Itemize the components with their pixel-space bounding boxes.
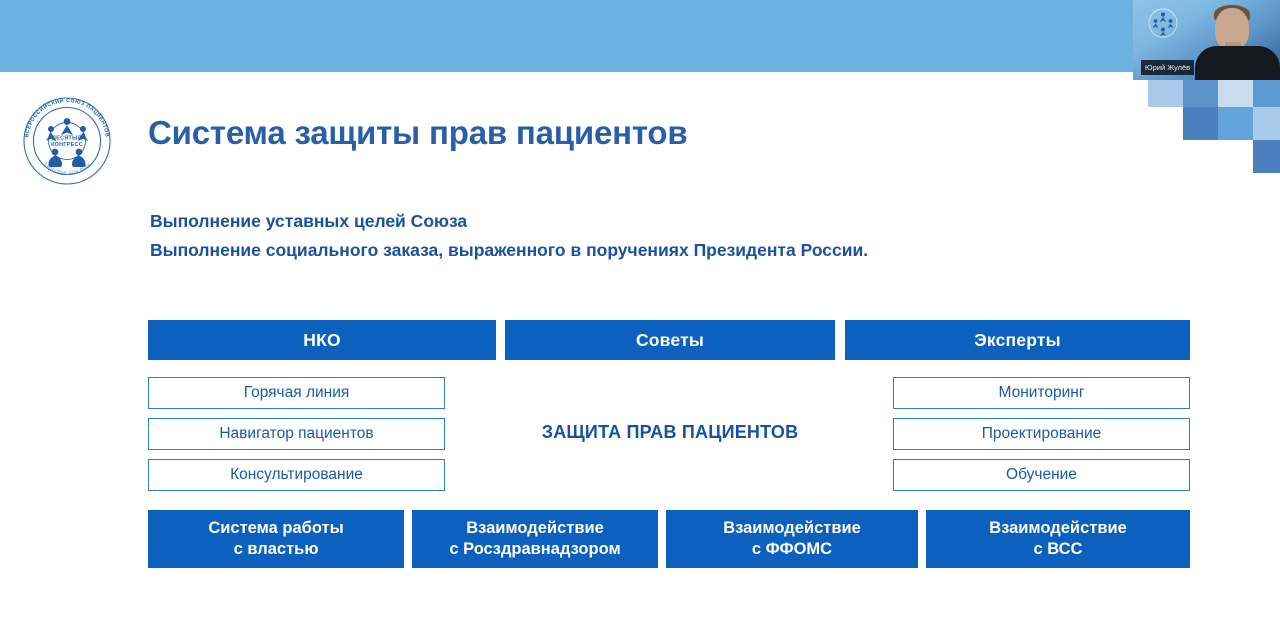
slide-subtitle-line-2: Выполнение социального заказа, выраженно…: [150, 240, 868, 261]
column-header-sovety: Советы: [505, 320, 835, 360]
mosaic-tile: [1218, 107, 1253, 140]
nko-item-hotline: Горячая линия: [148, 377, 445, 409]
mosaic-tile: [1218, 80, 1253, 107]
speaker-name-tag: Юрий Жулёв: [1141, 60, 1194, 75]
top-blue-band: [0, 0, 1280, 72]
mosaic-tile: [1148, 80, 1183, 107]
column-header-nko: НКО: [148, 320, 496, 360]
mosaic-tile: [1253, 140, 1280, 173]
mosaic-tile: [1183, 80, 1218, 107]
bottom-box-roszdravnadzor-line1: Взаимодействие: [466, 518, 604, 539]
presentation-slide: ВСЕРОССИЙСКИЙ СОЮЗ ПАЦИЕНТОВ Здоровье дл…: [0, 72, 1280, 640]
expert-item-monitoring: Мониторинг: [893, 377, 1190, 409]
svg-text:ДЕСЯТЫЙ: ДЕСЯТЫЙ: [52, 134, 82, 142]
speaker-torso: [1195, 46, 1280, 80]
center-emphasis-label: ЗАЩИТА ПРАВ ПАЦИЕНТОВ: [505, 422, 835, 443]
speaker-video-panel[interactable]: Юрий Жулёв: [1133, 0, 1280, 173]
expert-item-training: Обучение: [893, 459, 1190, 491]
bottom-box-authority-line2: с властью: [234, 539, 319, 560]
bottom-box-vss: Взаимодействие с ВСС: [926, 510, 1190, 568]
speaker-video-feed[interactable]: Юрий Жулёв: [1133, 0, 1280, 80]
mosaic-tile: [1183, 107, 1218, 140]
bottom-box-authority-line1: Система работы: [208, 518, 343, 539]
union-logo-icon: [1145, 5, 1181, 41]
bottom-box-authority: Система работы с властью: [148, 510, 404, 568]
expert-item-design: Проектирование: [893, 418, 1190, 450]
svg-text:КОНГРЕСС: КОНГРЕСС: [51, 142, 83, 148]
slide-subtitle-line-1: Выполнение уставных целей Союза: [150, 211, 467, 232]
screen: ВСЕРОССИЙСКИЙ СОЮЗ ПАЦИЕНТОВ Здоровье дл…: [0, 0, 1280, 640]
bottom-box-roszdravnadzor-line2: с Росздравнадзором: [449, 539, 620, 560]
congress-logo: ВСЕРОССИЙСКИЙ СОЮЗ ПАЦИЕНТОВ Здоровье дл…: [18, 92, 116, 190]
bottom-box-ffoms: Взаимодействие с ФФОМС: [666, 510, 918, 568]
mosaic-tile: [1253, 107, 1280, 140]
bottom-box-ffoms-line2: с ФФОМС: [752, 539, 832, 560]
bottom-box-roszdravnadzor: Взаимодействие с Росздравнадзором: [412, 510, 658, 568]
column-header-eksperty: Эксперты: [845, 320, 1190, 360]
nko-item-navigator: Навигатор пациентов: [148, 418, 445, 450]
bottom-box-vss-line2: с ВСС: [1034, 539, 1083, 560]
bottom-box-ffoms-line1: Взаимодействие: [723, 518, 861, 539]
nko-item-consulting: Консультирование: [148, 459, 445, 491]
bottom-box-vss-line1: Взаимодействие: [989, 518, 1127, 539]
slide-title: Система защиты прав пациентов: [148, 114, 687, 152]
mosaic-tile: [1253, 80, 1280, 107]
